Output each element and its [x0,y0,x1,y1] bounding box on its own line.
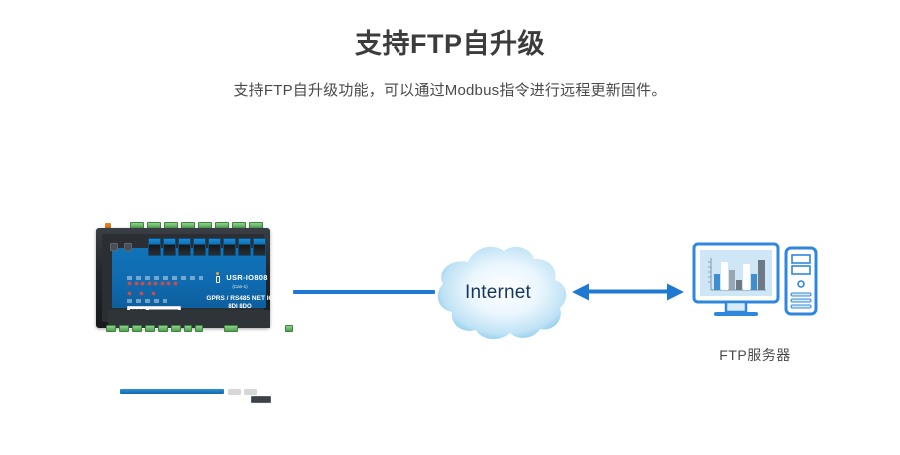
device-usr-io808: USR-IO808 (Can-1) GPRS / RS485 NET IO 8D… [96,228,270,328]
led-indicator [161,282,164,285]
led-indicator-row-1 [128,282,177,285]
terminal-block [224,325,238,332]
cloud-icon [422,238,574,348]
terminal-block [119,325,129,332]
tower-pc-icon [786,248,816,314]
terminal-block [145,325,155,332]
relay-connector [148,238,161,256]
lower-label-strip [120,389,224,394]
internet-cloud: Internet [422,238,574,348]
led-indicator [148,282,151,285]
led-indicator [174,282,177,285]
led-indicator [154,282,157,285]
relay-connector [223,238,236,256]
device-model-name: USR-IO808 [226,273,267,282]
led-indicator [167,282,170,285]
network-diagram: USR-IO808 (Can-1) GPRS / RS485 NET IO 8D… [0,0,900,455]
usr-logo-icon [212,272,223,283]
device-switch-2[interactable] [124,243,132,251]
bottom-terminal-strip [106,325,293,332]
relay-connector [238,238,251,256]
device-chassis: USR-IO808 (Can-1) GPRS / RS485 NET IO 8D… [96,228,270,328]
relay-connector-row [148,238,266,256]
device-spec-line-1: GPRS / RS485 NET IO [200,295,280,302]
device-branding: USR-IO808 (Can-1) GPRS / RS485 NET IO 8D… [200,272,280,310]
server-icon [690,240,820,340]
device-switch-1[interactable] [110,243,118,251]
led-indicator-row-2 [128,292,155,295]
connector-cloud-to-server [572,281,684,303]
relay-connector [208,238,221,256]
monitor-icon [694,244,778,316]
relay-connector [163,238,176,256]
led-indicator [140,292,143,295]
led-indicator [128,282,131,285]
relay-connector [193,238,206,256]
ftp-server-label: FTP服务器 [690,345,820,365]
led-indicator [135,282,138,285]
terminal-block [171,325,181,332]
device-button-reset[interactable] [244,389,257,395]
relay-connector [178,238,191,256]
sim-card-slot [251,396,271,403]
terminal-block [132,325,142,332]
relay-connector [253,238,266,256]
brand-header: USR-IO808 [200,272,280,283]
led-indicator [141,282,144,285]
terminal-block [195,325,203,332]
terminal-block [184,325,192,332]
device-button-reload[interactable] [228,389,241,395]
terminal-block [158,325,168,332]
device-model-variant: (Can-1) [200,284,280,289]
led-label-row [127,276,203,280]
led-label-row-2 [127,299,167,303]
led-indicator [152,292,155,295]
double-arrow-icon [572,281,684,303]
connector-device-to-cloud [293,290,435,294]
device-front-face: USR-IO808 (Can-1) GPRS / RS485 NET IO 8D… [112,248,266,308]
terminal-block [106,325,116,332]
led-indicator [128,292,131,295]
terminal-block [285,325,293,332]
ftp-server-illustration [690,240,820,340]
